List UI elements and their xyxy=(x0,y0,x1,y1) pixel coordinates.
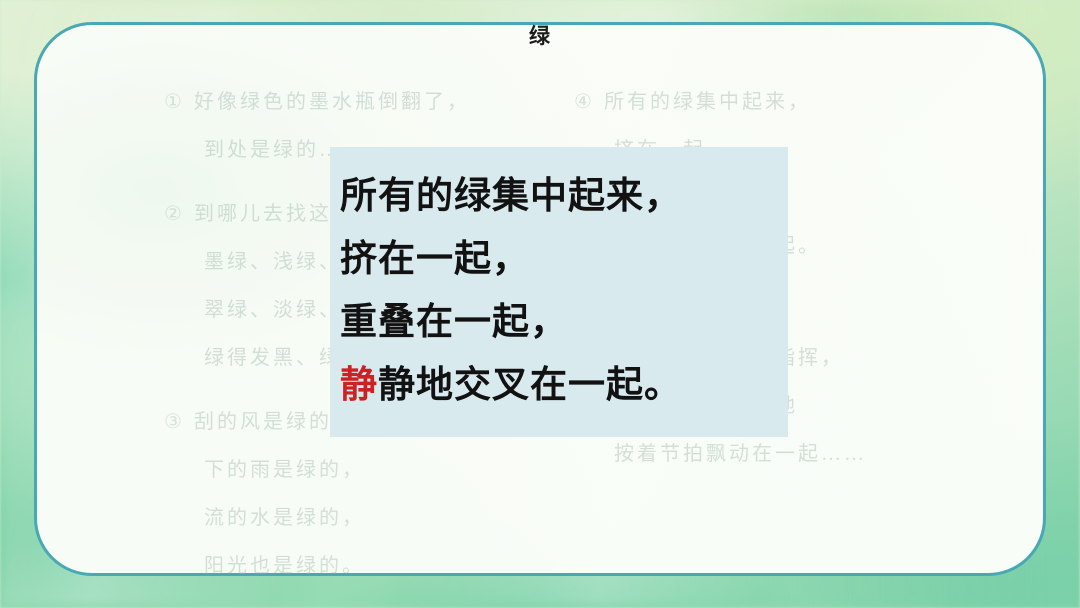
highlighted-character: 静 xyxy=(340,365,378,406)
quote-line-text: 挤在一起， xyxy=(340,239,530,280)
quote-line-text: 静地交叉在一起。 xyxy=(378,365,682,406)
slide-root: 绿 ①好像绿色的墨水瓶倒翻了，到处是绿的……②到哪儿去找这么多的绿：墨绿、浅绿、… xyxy=(0,0,1080,608)
highlighted-quote-box: 所有的绿集中起来，挤在一起，重叠在一起，静静地交叉在一起。 xyxy=(330,147,788,437)
quote-line: 静静地交叉在一起。 xyxy=(340,354,788,417)
quote-line-text: 所有的绿集中起来， xyxy=(340,176,682,217)
page-title: 绿 xyxy=(0,20,1080,50)
quote-line-text: 重叠在一起， xyxy=(340,302,568,343)
quote-line: 挤在一起， xyxy=(340,228,788,291)
quote-line: 重叠在一起， xyxy=(340,291,788,354)
quote-line: 所有的绿集中起来， xyxy=(340,165,788,228)
